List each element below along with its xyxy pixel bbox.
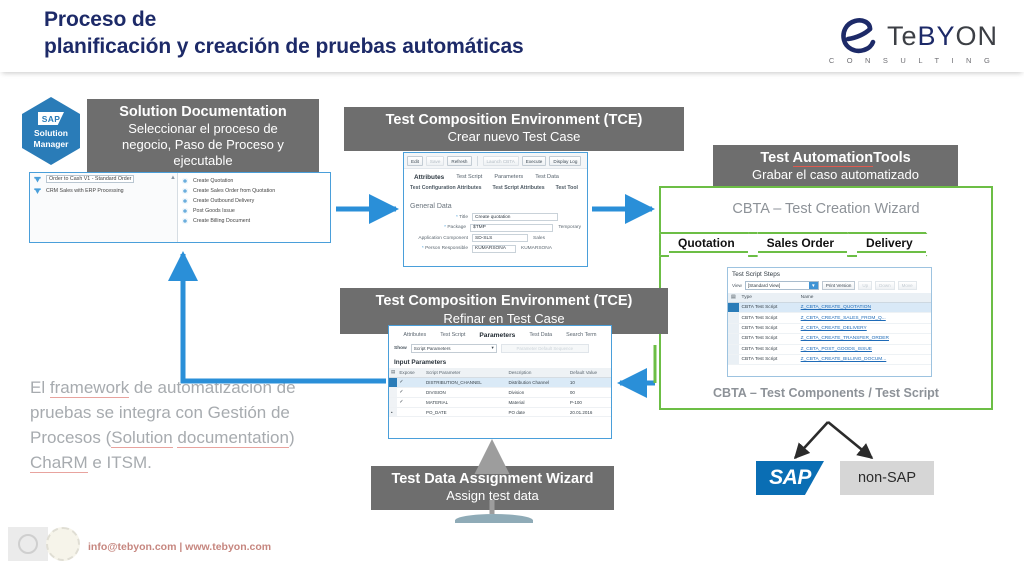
tce-secondary-tabs[interactable]: Test Configuration Attributes Test Scrip…: [404, 182, 587, 195]
list-item[interactable]: Order to Cash V1 - Standard Order: [30, 173, 177, 185]
application-component-field[interactable]: SD-SLS: [472, 234, 528, 242]
caption-test-automation-tools: Test AutomationTools Grabar el caso auto…: [713, 145, 958, 189]
list-item[interactable]: Create Quotation: [178, 176, 330, 186]
field-label: Application Component: [410, 236, 472, 241]
print-version-button[interactable]: Print Version: [822, 281, 856, 290]
title-field[interactable]: Create quotation: [472, 213, 558, 221]
column-default-value[interactable]: Default Value: [568, 368, 611, 378]
scroll-up-icon[interactable]: ▲: [170, 175, 176, 181]
row-marker[interactable]: [389, 397, 397, 407]
tce-create-testcase-panel[interactable]: Edit Save Refresh Launch CBTA Execute Di…: [403, 152, 588, 267]
accreditation-seal-icon: [8, 527, 48, 561]
cell-name[interactable]: Z_CBTA_CREATE_DELIVERY: [798, 323, 931, 333]
table-row[interactable]: ✓ MATERIAL Material P-100: [389, 397, 611, 407]
table-header-row: ▤ Type Name: [728, 293, 931, 303]
caption-title: Test Composition Environment (TCE): [348, 292, 660, 310]
tab-attributes[interactable]: Attributes: [403, 332, 426, 339]
package-field[interactable]: $TMP: [470, 224, 553, 232]
table-row[interactable]: CBTA Test Script Z_CBTA_CREATE_QUOTATION: [728, 303, 931, 313]
chevron-delivery[interactable]: Delivery: [857, 232, 926, 253]
cell-parameter: PO_DATE: [424, 408, 506, 417]
edit-button[interactable]: Edit: [407, 156, 423, 166]
test-script-steps-toolbar[interactable]: View [Standard View] ▼ Print Version Up …: [728, 281, 931, 293]
column-name[interactable]: Name: [798, 293, 931, 303]
caption-sub-1: Seleccionar el proceso de: [95, 121, 311, 137]
view-select[interactable]: [Standard View] ▼: [745, 281, 819, 290]
tab-test-data[interactable]: Test Data: [529, 332, 552, 339]
view-select-value: [Standard View]: [748, 283, 780, 288]
table-row[interactable]: • PO_DATE PO date 20.01.2016: [389, 408, 611, 417]
display-log-button[interactable]: Display Log: [549, 156, 581, 166]
view-label: View: [732, 283, 742, 288]
step-bullet-icon: [182, 188, 188, 194]
caption-title: Test Composition Environment (TCE): [352, 111, 676, 129]
description-paragraph: El framework de automatización de prueba…: [30, 375, 360, 475]
list-item-label: CRM Sales with ERP Processing: [46, 188, 124, 194]
process-list[interactable]: Order to Cash V1 - Standard Order CRM Sa…: [30, 173, 178, 242]
table-row[interactable]: CBTA Test Script Z_CBTA_CREATE_SALES_FRO…: [728, 313, 931, 323]
up-button[interactable]: Up: [858, 281, 872, 290]
cell-type: CBTA Test Script: [739, 323, 798, 333]
list-item[interactable]: Post Goods Issue: [178, 206, 330, 216]
form-row: Application Component SD-SLS Sales: [410, 234, 581, 242]
list-item[interactable]: Create Outbound Delivery: [178, 196, 330, 206]
table-header-row: ▤ Expose Script Parameter Description De…: [389, 368, 611, 378]
parameters-filter-row[interactable]: Show Script Parameters ▾ Parameter Defau…: [389, 342, 611, 357]
tebyon-e-icon: [840, 18, 880, 54]
person-responsible-tail: KUMARSONA: [516, 246, 552, 251]
row-marker[interactable]: [728, 334, 739, 344]
logo-tagline: C O N S U L T I N G: [829, 56, 995, 65]
column-type[interactable]: Type: [739, 293, 798, 303]
badge-line-2: Manager: [34, 139, 69, 150]
refresh-button[interactable]: Refresh: [447, 156, 471, 166]
list-item-label: Post Goods Issue: [193, 208, 235, 214]
field-label: * Person Responsible: [410, 246, 472, 251]
test-script-steps-table[interactable]: ▤ Type Name CBTA Test Script Z_CBTA_CREA…: [728, 293, 931, 365]
cell-default[interactable]: P-100: [568, 397, 611, 407]
cylinder-label: Test Data Container: [455, 528, 533, 560]
expose-checkbox[interactable]: ✓: [397, 387, 424, 397]
expose-checkbox[interactable]: ✓: [397, 377, 424, 387]
required-marker-icon: *: [456, 215, 458, 220]
brand-logo: TeBYON C O N S U L T I N G: [829, 18, 998, 65]
page-title: Proceso de planificación y creación de p…: [44, 6, 524, 60]
table-row[interactable]: ✓ DIVISION Division 00: [389, 387, 611, 397]
required-marker-icon: *: [444, 225, 446, 230]
cell-parameter: DISTRIBUTION_CHANNEL: [424, 377, 506, 387]
show-select[interactable]: Script Parameters ▾: [411, 344, 497, 353]
expose-checkbox[interactable]: ✓: [397, 397, 424, 407]
cbta-step-chevrons[interactable]: Quotation Sales Order Delivery: [669, 232, 926, 253]
expose-checkbox[interactable]: [397, 408, 424, 417]
execute-button[interactable]: Execute: [522, 156, 547, 166]
arrow-cbta-to-non-sap: [828, 422, 872, 458]
paragraph-line-2: pruebas se integra con Gestión de: [30, 400, 360, 425]
row-marker[interactable]: [728, 303, 739, 313]
row-marker[interactable]: [728, 354, 739, 364]
list-item[interactable]: Create Billing Document: [178, 216, 330, 226]
cbta-wizard-heading: CBTA – Test Creation Wizard: [661, 188, 991, 217]
column-script-parameter[interactable]: Script Parameter: [424, 368, 506, 378]
badge-line-1: Solution: [34, 128, 68, 139]
paragraph-line-4: ChaRM e ITSM.: [30, 450, 360, 475]
solution-documentation-panel[interactable]: Order to Cash V1 - Standard Order CRM Sa…: [29, 172, 331, 243]
tce-primary-tabs[interactable]: Attributes Test Script Parameters Test D…: [404, 169, 587, 182]
cell-default[interactable]: 10: [568, 377, 611, 387]
cylinder-label-line1: Test Data: [455, 528, 533, 544]
input-parameters-heading: Input Parameters: [389, 357, 611, 368]
form-row: * Title Create quotation: [410, 213, 581, 221]
list-item-label: Create Sales Order from Quotation: [193, 188, 275, 194]
row-marker[interactable]: [728, 323, 739, 333]
logo-part-on: ON: [956, 21, 999, 51]
caption-solution-documentation: Solution Documentation Seleccionar el pr…: [87, 99, 319, 175]
save-button[interactable]: Save: [426, 156, 444, 166]
list-item-label: Create Quotation: [193, 178, 233, 184]
cell-name[interactable]: Z_CBTA_CREATE_BILLING_DOCUM...: [798, 354, 931, 364]
step-bullet-icon: [182, 218, 188, 224]
table-row[interactable]: CBTA Test Script Z_CBTA_CREATE_DELIVERY: [728, 323, 931, 333]
general-data-heading: General Data: [404, 195, 587, 213]
caption-tce-top: Test Composition Environment (TCE) Crear…: [344, 107, 684, 151]
show-select-value: Script Parameters: [414, 346, 451, 351]
pin-icon: [34, 176, 41, 183]
cell-description: Division: [506, 387, 567, 397]
sap-solution-manager-badge: SAP Solution Manager: [22, 97, 80, 165]
caption-sub-2: negocio, Paso de Proceso y: [95, 137, 311, 153]
row-marker[interactable]: [728, 313, 739, 323]
row-marker[interactable]: [728, 344, 739, 354]
caption-title: Test Data Assignment Wizard: [379, 470, 606, 488]
logo-wordmark: TeBYON: [887, 21, 998, 52]
cell-description: Material: [506, 397, 567, 407]
cell-description: PO date: [506, 408, 567, 417]
caption-title: Test AutomationTools: [721, 149, 950, 167]
cell-type: CBTA Test Script: [739, 313, 798, 323]
launch-cbta-button[interactable]: Launch CBTA: [483, 156, 519, 166]
cell-description: Distribution Channel: [506, 377, 567, 387]
row-marker[interactable]: [389, 387, 397, 397]
cell-default[interactable]: 00: [568, 387, 611, 397]
paragraph-line-1: El framework de automatización de: [30, 375, 360, 400]
seal-ring: [18, 534, 38, 554]
cell-name[interactable]: Z_CBTA_CREATE_QUOTATION: [798, 303, 931, 313]
field-label: * Package: [410, 225, 470, 230]
caption-sub: Grabar el caso automatizado: [721, 167, 950, 183]
cylinder-label-line2: Container: [455, 544, 533, 560]
footer-contact: info@tebyon.com | www.tebyon.com: [88, 541, 271, 553]
header-band: Proceso de planificación y creación de p…: [0, 0, 1024, 72]
tab-test-script-attributes[interactable]: Test Script Attributes: [492, 185, 544, 191]
cbta-green-container: CBTA – Test Creation Wizard Quotation Sa…: [659, 186, 993, 410]
caption-test-data-wizard: Test Data Assignment Wizard Assign test …: [371, 466, 614, 510]
cell-default[interactable]: 20.01.2016: [568, 408, 611, 417]
cell-parameter: MATERIAL: [424, 397, 506, 407]
list-item-label: Create Outbound Delivery: [193, 198, 254, 204]
tab-test-script[interactable]: Test Script: [456, 174, 482, 181]
chevron-sales-order[interactable]: Sales Order: [758, 232, 847, 253]
sap-target-logo: SAP: [756, 461, 824, 495]
certification-seal-icon: [46, 527, 80, 561]
sap-logo-icon: SAP: [38, 112, 64, 125]
table-row[interactable]: CBTA Test Script Z_CBTA_CREATE_TRANSFER_…: [728, 334, 931, 344]
step-bullet-icon: [182, 198, 188, 204]
cell-name[interactable]: Z_CBTA_CREATE_TRANSFER_ORDER: [798, 334, 931, 344]
row-select-header-icon: ▤: [728, 293, 739, 303]
cell-type: CBTA Test Script: [739, 334, 798, 344]
table-row[interactable]: CBTA Test Script Z_CBTA_POST_GOODS_ISSUE: [728, 344, 931, 354]
pin-icon: [34, 187, 41, 194]
form-row: * Package $TMP Temporary: [410, 224, 581, 232]
test-data-container-cylinder: Test Data Container: [455, 514, 533, 566]
tab-attributes[interactable]: Attributes: [414, 174, 444, 181]
process-steps-list[interactable]: Create Quotation Create Sales Order from…: [178, 173, 330, 242]
cell-type: CBTA Test Script: [739, 344, 798, 354]
logo-part-b: B: [917, 21, 936, 51]
down-button[interactable]: Down: [875, 281, 895, 290]
cell-name[interactable]: Z_CBTA_CREATE_SALES_FROM_Q...: [798, 313, 931, 323]
tce-toolbar[interactable]: Edit Save Refresh Launch CBTA Execute Di…: [404, 153, 587, 169]
cell-name[interactable]: Z_CBTA_POST_GOODS_ISSUE: [798, 344, 931, 354]
caption-sub: Crear nuevo Test Case: [352, 129, 676, 145]
cbta-components-footer: CBTA – Test Components / Test Script: [661, 386, 991, 400]
input-parameters-table[interactable]: ▤ Expose Script Parameter Description De…: [389, 368, 611, 418]
form-row: * Person Responsible KUMARSONA KUMARSONA: [410, 245, 581, 253]
caption-title: Solution Documentation: [95, 103, 311, 121]
column-description[interactable]: Description: [506, 368, 567, 378]
tab-test-data[interactable]: Test Data: [535, 174, 559, 181]
non-sap-target-box: non-SAP: [840, 461, 934, 495]
tab-parameters[interactable]: Parameters: [494, 174, 523, 181]
cell-type: CBTA Test Script: [739, 303, 798, 313]
general-data-form[interactable]: * Title Create quotation * Package $TMP …: [404, 213, 587, 253]
list-item[interactable]: Create Sales Order from Quotation: [178, 186, 330, 196]
package-tail: Temporary: [553, 225, 581, 230]
required-marker-icon: *: [422, 246, 424, 251]
cell-parameter: DIVISION: [424, 387, 506, 397]
test-script-steps-panel[interactable]: Test Script Steps View [Standard View] ▼…: [727, 267, 932, 377]
row-marker[interactable]: [389, 377, 397, 387]
row-marker[interactable]: •: [389, 408, 397, 417]
test-script-steps-heading: Test Script Steps: [728, 268, 931, 281]
column-expose[interactable]: Expose: [397, 368, 424, 378]
tab-test-script[interactable]: Test Script: [440, 332, 465, 339]
step-bullet-icon: [182, 178, 188, 184]
step-bullet-icon: [182, 208, 188, 214]
list-item-label: Create Billing Document: [193, 218, 250, 224]
parameters-tabs[interactable]: Attributes Test Script Parameters Test D…: [389, 326, 611, 342]
toolbar-divider: [477, 156, 478, 166]
caption-sub: Assign test data: [379, 488, 606, 504]
tab-test-configuration-attributes[interactable]: Test Configuration Attributes: [410, 185, 481, 191]
logo-part-y: Y: [936, 21, 955, 51]
application-component-tail: Sales: [528, 236, 545, 241]
field-label: * Title: [410, 215, 472, 220]
move-button[interactable]: Move: [898, 281, 917, 290]
list-item[interactable]: CRM Sales with ERP Processing: [30, 185, 177, 196]
table-row[interactable]: CBTA Test Script Z_CBTA_CREATE_BILLING_D…: [728, 354, 931, 364]
chevron-quotation[interactable]: Quotation: [669, 232, 748, 253]
cell-type: CBTA Test Script: [739, 354, 798, 364]
tab-parameters[interactable]: Parameters: [479, 332, 515, 339]
parameter-default-sequence-button[interactable]: Parameter Default Sequence: [501, 344, 589, 353]
caption-sub-3: ejecutable: [95, 153, 311, 169]
list-item-label: Order to Cash V1 - Standard Order: [46, 175, 134, 183]
table-row[interactable]: ✓ DISTRIBUTION_CHANNEL Distribution Chan…: [389, 377, 611, 387]
chevron-down-icon[interactable]: ▼: [809, 282, 818, 289]
tab-test-tool[interactable]: Test Tool: [556, 185, 578, 191]
tce-refine-testcase-panel[interactable]: Attributes Test Script Parameters Test D…: [388, 325, 612, 439]
tab-search-term[interactable]: Search Term: [566, 332, 596, 339]
show-label: Show: [394, 346, 407, 351]
person-responsible-field[interactable]: KUMARSONA: [472, 245, 516, 253]
paragraph-line-3: Procesos (Solution documentation): [30, 425, 360, 450]
row-select-header-icon: ▤: [389, 368, 397, 378]
logo-part-te: Te: [887, 21, 918, 51]
page-title-line1: Proceso de: [44, 6, 524, 33]
chevron-down-icon[interactable]: ▾: [491, 345, 493, 351]
slide-canvas: Proceso de planificación y creación de p…: [0, 0, 1024, 567]
arrow-cbta-to-sap: [795, 422, 828, 458]
page-title-line2: planificación y creación de pruebas auto…: [44, 33, 524, 60]
